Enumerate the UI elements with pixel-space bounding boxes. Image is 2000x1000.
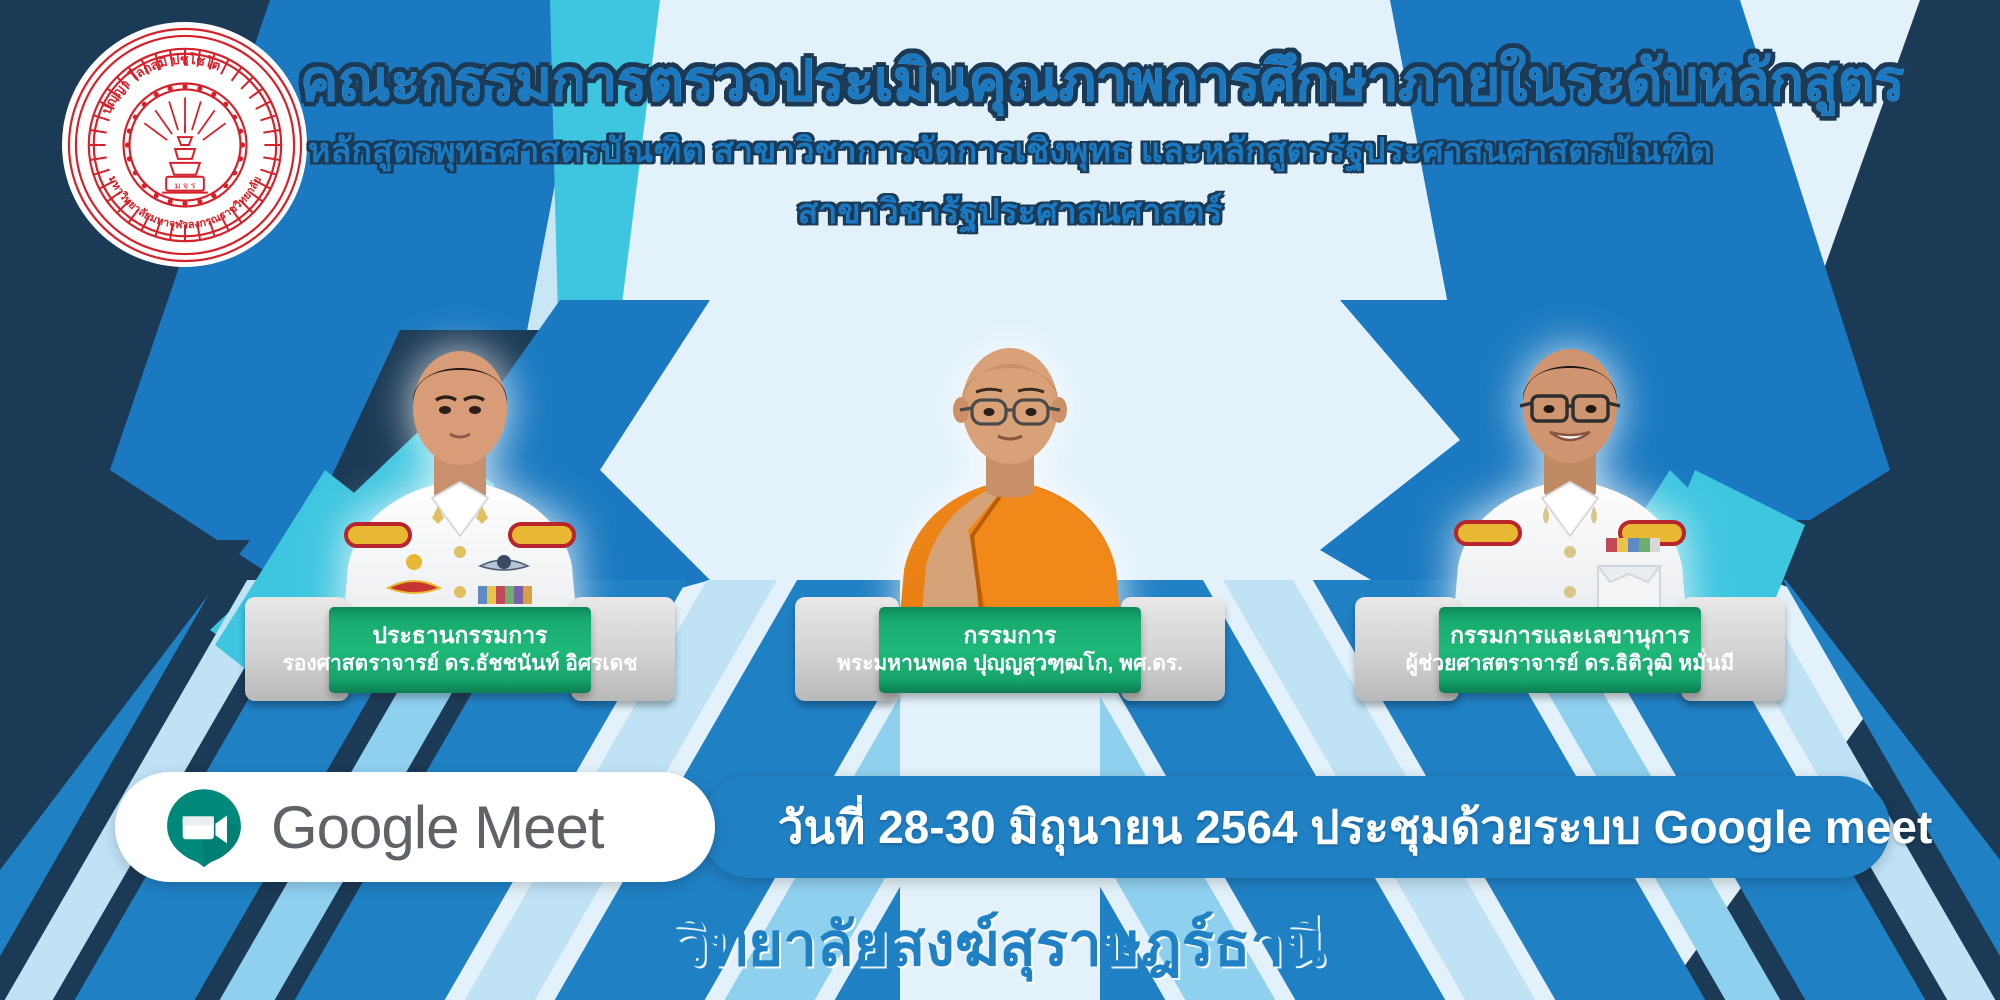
- university-seal: ม จ ร ปญฺญา โลกสฺมิ ปชฺโชโต มหาวิทยาลัยม…: [62, 22, 307, 267]
- nameplate-role: ประธานกรรมการ: [373, 622, 548, 648]
- nameplate-chairperson: ประธานกรรมการ รองศาสตราจารย์ ดร.ธัชชนันท…: [245, 595, 675, 705]
- nameplate-name: ผู้ช่วยศาสตราจารย์ ดร.ธิติวุฒิ หมั่นมี: [1406, 651, 1735, 676]
- nameplate-name: พระมหานพดล ปุญฺญสุวฑฺฒโก, พศ.ดร.: [837, 651, 1183, 676]
- seal-inner-label: ม จ ร: [174, 180, 195, 190]
- nameplate-role: กรรมการ: [964, 622, 1057, 648]
- google-meet-wordmark: Google Meet: [271, 793, 604, 862]
- headline-block: คณะกรรมการตรวจประเมินคุณภาพการศึกษาภายใน…: [300, 52, 1720, 238]
- page-title: คณะกรรมการตรวจประเมินคุณภาพการศึกษาภายใน…: [300, 52, 1720, 112]
- page-subtitle-1: หลักสูตรพุทธศาสตรบัณฑิต สาขาวิชาการจัดกา…: [300, 130, 1720, 173]
- nameplate-role: กรรมการและเลขานุการ: [1450, 622, 1690, 648]
- footer-organization: วิทยาลัยสงฆ์สุราษฎร์ธานี: [0, 897, 2000, 992]
- meeting-details-bar: วันที่ 28-30 มิถุนายน 2564 ประชุมด้วยระบ…: [700, 776, 1890, 878]
- nameplate-center: กรรมการ พระมหานพดล ปุญฺญสุวฑฺฒโก, พศ.ดร.: [879, 607, 1141, 693]
- nameplate-center: ประธานกรรมการ รองศาสตราจารย์ ดร.ธัชชนันท…: [329, 607, 591, 693]
- page-subtitle-2: สาขาวิชารัฐประศาสนศาสตร์: [300, 184, 1720, 238]
- event-banner: ม จ ร ปญฺญา โลกสฺมิ ปชฺโชโต มหาวิทยาลัยม…: [0, 0, 2000, 1000]
- nameplate-center: กรรมการและเลขานุการ ผู้ช่วยศาสตราจารย์ ด…: [1439, 607, 1701, 693]
- nameplate-committee-member: กรรมการ พระมหานพดล ปุญฺญสุวฑฺฒโก, พศ.ดร.: [795, 595, 1225, 705]
- google-meet-badge: Google Meet: [115, 772, 715, 882]
- nameplate-committee-secretary: กรรมการและเลขานุการ ผู้ช่วยศาสตราจารย์ ด…: [1355, 595, 1785, 705]
- nameplate-name: รองศาสตราจารย์ ดร.ธัชชนันท์ อิศรเดช: [282, 651, 637, 676]
- meeting-details-text: วันที่ 28-30 มิถุนายน 2564 ประชุมด้วยระบ…: [658, 791, 1933, 864]
- google-meet-icon: [163, 786, 245, 868]
